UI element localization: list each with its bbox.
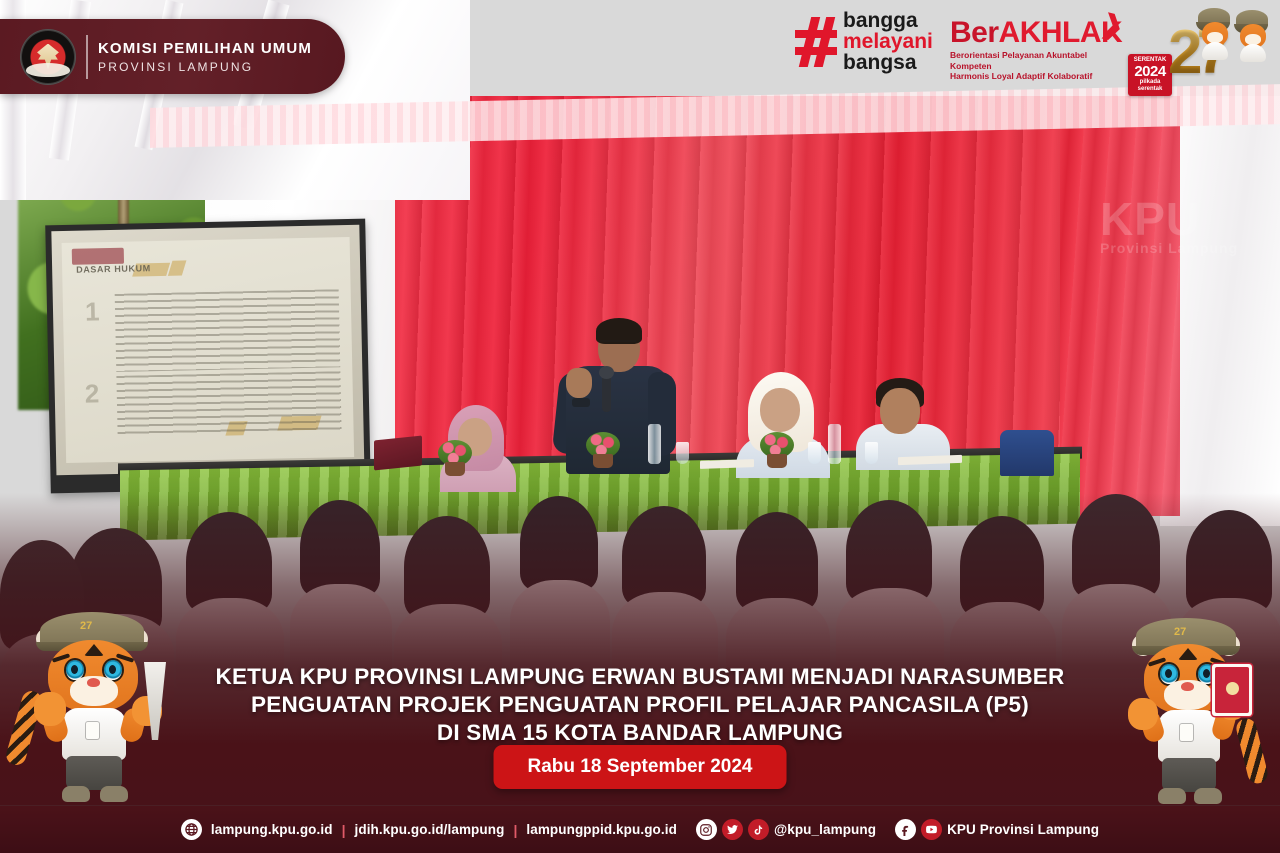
footer-contact-bar: lampung.kpu.go.id | jdih.kpu.go.id/lampu…: [0, 805, 1280, 853]
mascot-id-badge: [1180, 724, 1193, 741]
pilkada-badge-label1: pilkada: [1140, 79, 1161, 85]
berakhlak-logo: BerAKHLAK ❯ Berorientasi Pelayanan Akunt…: [950, 18, 1130, 82]
cap-logo-icon: 27: [1174, 626, 1186, 638]
berakhlak-tagline-2: Harmonis Loyal Adaptif Kolaboratif: [950, 71, 1130, 82]
website-ppid[interactable]: lampungppid.kpu.go.id: [526, 822, 677, 837]
watermark-main: KPU: [1100, 193, 1200, 245]
water-bottle: [828, 424, 841, 464]
header-organization-badge: KOMISI PEMILIHAN UMUM PROVINSI LAMPUNG: [0, 19, 345, 94]
poster-canvas: DASAR HUKUM 1 2: [0, 0, 1280, 853]
kpu-watermark: KPU Provinsi Lampung: [1100, 198, 1238, 255]
bangga-line-3: bangsa: [843, 52, 933, 73]
tiktok-icon[interactable]: [748, 819, 769, 840]
laptop: [374, 435, 422, 470]
headline-line-3: DI SMA 15 KOTA BANDAR LAMPUNG: [150, 719, 1130, 747]
twitter-icon[interactable]: [722, 819, 743, 840]
website-main[interactable]: lampung.kpu.go.id: [211, 822, 333, 837]
presentation-slide: DASAR HUKUM 1 2: [62, 237, 355, 463]
facebook-icon[interactable]: [895, 819, 916, 840]
projector-screen: DASAR HUKUM 1 2: [45, 219, 371, 494]
cap-logo-icon: 27: [80, 620, 92, 632]
organization-name: KOMISI PEMILIHAN UMUM: [98, 40, 312, 57]
tiger-mascot-right: 27: [1116, 608, 1280, 814]
headline-block: KETUA KPU PROVINSI LAMPUNG ERWAN BUSTAMI…: [150, 663, 1130, 747]
instagram-icon[interactable]: [696, 819, 717, 840]
drinking-glass: [808, 442, 821, 464]
slide-item-number: 2: [84, 378, 99, 409]
flower-pot: [767, 454, 787, 468]
footer-separator: |: [342, 822, 346, 838]
voter-card-icon: [1212, 664, 1252, 716]
hashtag-icon: [795, 17, 837, 67]
slide-title: DASAR HUKUM: [76, 263, 151, 275]
tiger-mascot-pair-top: [1196, 6, 1272, 62]
headline-line-1: KETUA KPU PROVINSI LAMPUNG ERWAN BUSTAMI…: [150, 663, 1130, 691]
header-divider: [86, 35, 88, 79]
footer-separator: |: [513, 822, 517, 838]
kpu-emblem-icon: [20, 29, 76, 85]
water-bottle: [648, 424, 661, 464]
bangga-line-2: melayani: [843, 31, 933, 52]
pilkada-2024-badge: SERENTAK 2024 pilkada serentak: [1128, 54, 1172, 96]
flower-pot: [445, 462, 465, 476]
headline-line-2: PENGUATAN PROJEK PENGUATAN PROFIL PELAJA…: [150, 691, 1130, 719]
drinking-glass: [676, 442, 689, 464]
event-date-badge: Rabu 18 September 2024: [494, 745, 787, 789]
blue-chair: [1000, 430, 1054, 476]
social-handle[interactable]: @kpu_lampung: [774, 822, 876, 837]
bangga-line-1: bangga: [843, 10, 933, 31]
slide-item-number: 1: [85, 296, 100, 327]
watermark-sub: Provinsi Lampung: [1100, 242, 1238, 255]
berakhlak-tagline-1: Berorientasi Pelayanan Akuntabel Kompete…: [950, 50, 1130, 71]
pilkada-badge-label2: serentak: [1138, 86, 1163, 92]
globe-icon: [181, 819, 202, 840]
berakhlak-prefix: Ber: [950, 16, 999, 49]
youtube-icon[interactable]: [921, 819, 942, 840]
drinking-glass: [865, 442, 878, 464]
bangga-melayani-bangsa-logo: bangga melayani bangsa: [795, 10, 933, 73]
website-jdih[interactable]: jdih.kpu.go.id/lampung: [355, 822, 505, 837]
flower-pot: [593, 454, 613, 468]
mascot-id-badge: [86, 722, 99, 739]
pilkada-badge-year: 2024: [1128, 64, 1172, 79]
page-name[interactable]: KPU Provinsi Lampung: [947, 822, 1099, 837]
region-name: PROVINSI LAMPUNG: [98, 60, 312, 74]
